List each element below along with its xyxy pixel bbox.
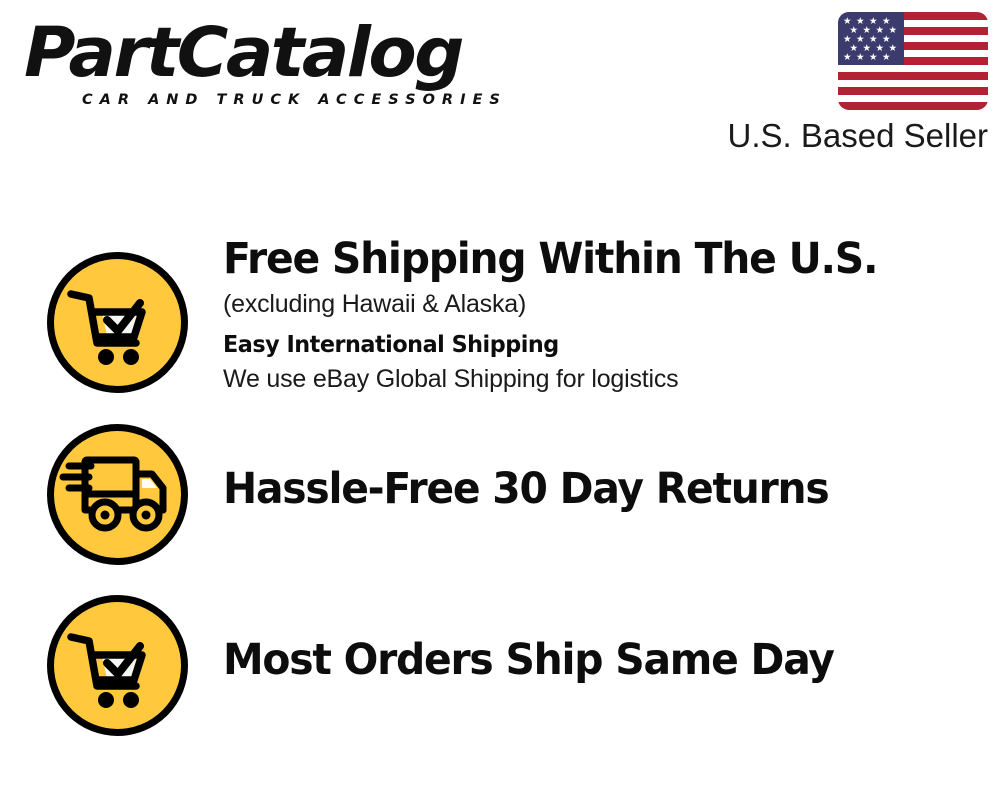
- delivery-truck-icon: [45, 422, 190, 567]
- benefit-text-block: Free Shipping Within The U.S. (excluding…: [223, 234, 990, 396]
- shopping-cart-check-icon: [45, 593, 190, 738]
- shopping-cart-check-icon: [45, 250, 190, 395]
- benefit-detail: We use eBay Global Shipping for logistic…: [223, 362, 990, 396]
- benefit-row: Hassle-Free 30 Day Returns: [0, 422, 1000, 567]
- benefit-subtitle: Easy International Shipping: [223, 329, 967, 361]
- benefits-list: Free Shipping Within The U.S. (excluding…: [0, 0, 1000, 800]
- benefit-text-block: Hassle-Free 30 Day Returns: [223, 464, 990, 514]
- benefit-note: (excluding Hawaii & Alaska): [223, 287, 990, 321]
- benefit-row: Most Orders Ship Same Day: [0, 593, 1000, 738]
- benefit-row: Free Shipping Within The U.S. (excluding…: [0, 250, 1000, 410]
- benefit-text-block: Most Orders Ship Same Day: [223, 635, 990, 685]
- benefit-title: Free Shipping Within The U.S.: [223, 234, 952, 284]
- benefit-title: Most Orders Ship Same Day: [223, 635, 952, 685]
- benefit-title: Hassle-Free 30 Day Returns: [223, 464, 952, 514]
